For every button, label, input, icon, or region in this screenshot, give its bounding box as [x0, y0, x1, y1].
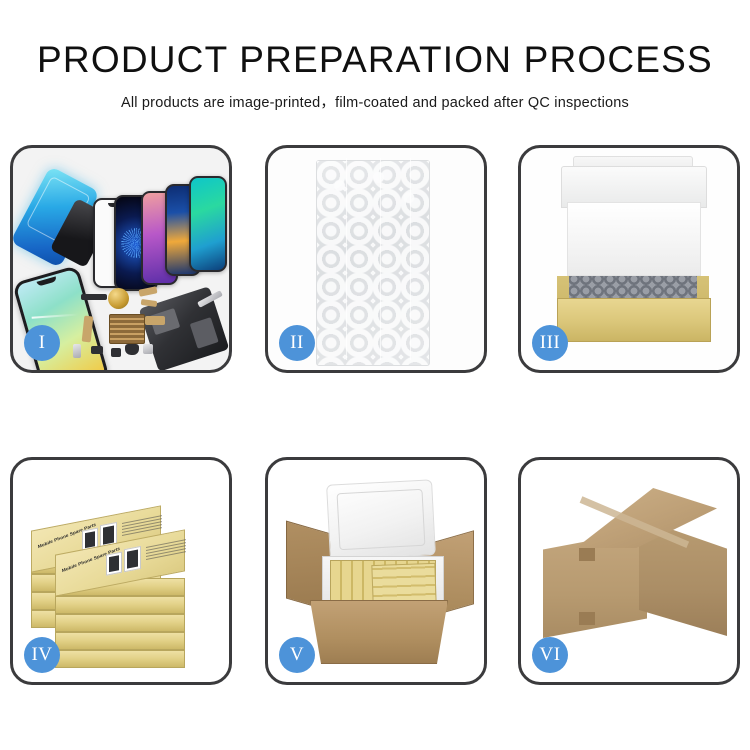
carton-tape-lower: [579, 612, 595, 625]
flex-cable-4: [145, 316, 165, 325]
flex-cable-2: [141, 299, 158, 307]
chip-part-4: [125, 344, 139, 355]
step-badge-1: I: [24, 325, 60, 361]
product-preparation-infographic: PRODUCT PREPARATION PROCESS All products…: [0, 0, 750, 750]
carton-front: [310, 600, 448, 664]
step-badge-6: VI: [532, 637, 568, 673]
process-step-1: I: [10, 145, 232, 373]
step-badge-2: II: [279, 325, 315, 361]
box-slab-f5: [55, 650, 185, 668]
step-badge-4: IV: [24, 637, 60, 673]
yellow-boxes-row-2: [371, 563, 436, 605]
process-step-4: Mobile Phone Spare Parts Mobile P: [10, 457, 232, 685]
page-subtitle: All products are image-printed，film-coat…: [0, 91, 750, 112]
box-thumb-f1: [106, 552, 122, 576]
vibration-motor: [108, 288, 129, 309]
process-step-6: VI: [518, 457, 740, 685]
box-bullets-front: [146, 539, 186, 562]
foam-lid: [326, 479, 436, 560]
page-title: PRODUCT PREPARATION PROCESS: [0, 41, 750, 78]
process-step-5: V: [265, 457, 487, 685]
bubble-wrap-bag: [316, 160, 430, 366]
white-foam-sheet: [567, 202, 701, 276]
process-row-2: Mobile Phone Spare Parts Mobile P: [0, 457, 750, 685]
small-part-2: [143, 344, 153, 354]
step-badge-3: III: [532, 325, 568, 361]
process-step-2: II: [265, 145, 487, 373]
box-thumb-f2: [124, 546, 141, 572]
chip-part-1: [81, 294, 107, 300]
process-row-1: I II: [0, 145, 750, 373]
chip-part-3: [111, 348, 121, 357]
connector-grid: [109, 314, 145, 344]
carton-tape-upper: [579, 548, 595, 561]
bag-seam-mid: [380, 158, 381, 360]
box-slab-f2: [55, 596, 185, 614]
process-step-3: III: [518, 145, 740, 373]
step-badge-5: V: [279, 637, 315, 673]
small-part-1: [73, 344, 81, 358]
box-slab-f4: [55, 632, 185, 650]
phone-teal: [189, 176, 227, 272]
box-slab-f3: [55, 614, 185, 632]
bag-seam-left: [346, 158, 347, 360]
bag-seam-right: [410, 158, 411, 360]
chip-part-2: [91, 346, 103, 354]
box-front-yellow: [557, 298, 711, 342]
header: PRODUCT PREPARATION PROCESS All products…: [0, 0, 750, 112]
process-grid: I II: [0, 145, 750, 685]
